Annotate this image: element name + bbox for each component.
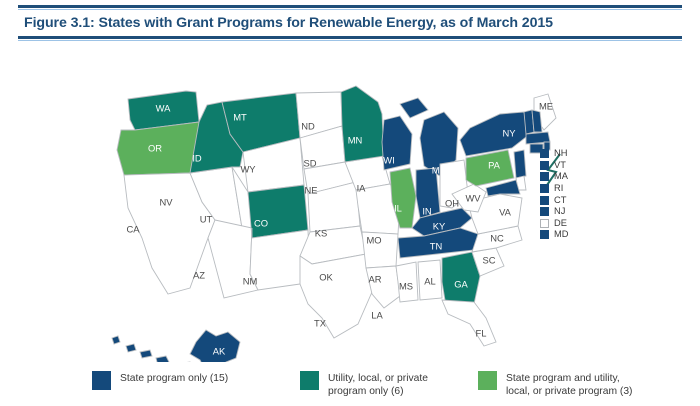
legend-item-state-program-only[interactable]: State program only (15) bbox=[92, 371, 228, 390]
state-NH[interactable] bbox=[532, 110, 542, 132]
state-label-TN: TN bbox=[430, 240, 443, 251]
state-label-AL: AL bbox=[424, 275, 435, 286]
state-label-NY: NY bbox=[502, 127, 516, 138]
callout-label: NH bbox=[554, 149, 567, 158]
callout-swatch-icon bbox=[540, 184, 549, 193]
state-label-WY: WY bbox=[240, 163, 256, 174]
state-label-NM: NM bbox=[243, 275, 258, 286]
state-label-OH: OH bbox=[445, 197, 459, 208]
callout-swatch-icon bbox=[540, 161, 549, 170]
state-label-MS: MS bbox=[399, 280, 413, 291]
legend-label-block: State program and utility, local, or pri… bbox=[506, 371, 632, 398]
callout-label: NJ bbox=[554, 207, 565, 216]
state-TX[interactable] bbox=[300, 254, 372, 338]
callout-swatch-icon bbox=[540, 207, 549, 216]
callout-swatch-icon bbox=[540, 149, 549, 158]
state-label-MT: MT bbox=[233, 111, 247, 122]
callout-label: CT bbox=[554, 196, 566, 205]
callout-label: MD bbox=[554, 230, 568, 239]
legend-label-line2: program only (6) bbox=[328, 386, 404, 397]
state-label-KS: KS bbox=[315, 227, 328, 238]
state-label-UT: UT bbox=[200, 213, 213, 224]
state-label-VA: VA bbox=[499, 206, 512, 217]
title-rule-bottom bbox=[18, 36, 682, 39]
legend-label-line1: Utility, local, or private bbox=[328, 373, 428, 384]
state-label-GA: GA bbox=[454, 278, 468, 289]
legend-item-state-and-utility[interactable]: State program and utility, local, or pri… bbox=[478, 371, 632, 398]
state-label-AZ: AZ bbox=[193, 269, 205, 280]
state-label-NV: NV bbox=[159, 196, 173, 207]
state-label-SD: SD bbox=[303, 157, 316, 168]
state-MN[interactable] bbox=[341, 86, 384, 162]
callout-swatch-icon bbox=[540, 219, 549, 228]
choropleth-map: WA OR CA NV ID MT WY UT AZ CO NM ND SD N… bbox=[0, 42, 700, 362]
state-label-ID: ID bbox=[192, 152, 202, 163]
legend-swatch-icon bbox=[478, 371, 497, 390]
state-label-IA: IA bbox=[357, 182, 367, 193]
state-label-KY: KY bbox=[433, 220, 446, 231]
state-HI[interactable] bbox=[112, 336, 194, 362]
callout-item-ri[interactable]: RI bbox=[540, 183, 568, 195]
state-label-LA: LA bbox=[371, 309, 383, 320]
callout-swatch-icon bbox=[540, 172, 549, 181]
state-label-WI: WI bbox=[383, 154, 394, 165]
state-label-CA: CA bbox=[126, 223, 140, 234]
legend-label-line2: local, or private program (3) bbox=[506, 386, 632, 397]
state-label-MN: MN bbox=[348, 134, 363, 145]
callout-item-de[interactable]: DE bbox=[540, 218, 568, 230]
callout-item-ma[interactable]: MA bbox=[540, 171, 568, 183]
state-label-MI: MI bbox=[432, 164, 442, 175]
legend-label-line1: State program and utility, bbox=[506, 373, 620, 384]
state-NY[interactable] bbox=[460, 112, 530, 156]
state-label-CO: CO bbox=[254, 217, 268, 228]
callout-item-md[interactable]: MD bbox=[540, 229, 568, 241]
state-label-PA: PA bbox=[488, 159, 501, 170]
callout-item-ct[interactable]: CT bbox=[540, 194, 568, 206]
title-rule-top bbox=[18, 5, 682, 8]
callout-label: DE bbox=[554, 219, 567, 228]
legend-label-block: Utility, local, or private program only … bbox=[328, 371, 428, 398]
callout-swatch-icon bbox=[540, 196, 549, 205]
state-CO[interactable] bbox=[248, 185, 308, 238]
state-label-ME: ME bbox=[539, 100, 553, 111]
state-label-WV: WV bbox=[465, 192, 481, 203]
callout-label: VT bbox=[554, 161, 566, 170]
state-NJ[interactable] bbox=[514, 150, 526, 178]
state-FL[interactable] bbox=[442, 300, 496, 346]
state-LA[interactable] bbox=[366, 266, 400, 308]
figure-title-block: Figure 3.1: States with Grant Programs f… bbox=[18, 5, 682, 41]
state-label-OK: OK bbox=[319, 271, 333, 282]
callout-item-nj[interactable]: NJ bbox=[540, 206, 568, 218]
legend-item-utility-local-private[interactable]: Utility, local, or private program only … bbox=[300, 371, 428, 398]
state-label-TX: TX bbox=[314, 317, 327, 328]
legend-label: State program only (15) bbox=[120, 371, 228, 385]
state-label-OR: OR bbox=[148, 142, 162, 153]
state-callout-list: NH VT MA RI CT NJ DE MD bbox=[540, 148, 568, 241]
state-label-IL: IL bbox=[394, 202, 402, 213]
legend-swatch-icon bbox=[300, 371, 319, 390]
legend-swatch-icon bbox=[92, 371, 111, 390]
callout-swatch-icon bbox=[540, 230, 549, 239]
state-label-AR: AR bbox=[368, 273, 381, 284]
state-label-IN: IN bbox=[422, 205, 431, 216]
state-label-AK: AK bbox=[213, 345, 226, 356]
page-title: Figure 3.1: States with Grant Programs f… bbox=[18, 10, 682, 36]
callout-item-nh[interactable]: NH bbox=[540, 148, 568, 160]
state-label-MO: MO bbox=[366, 234, 381, 245]
state-label-ND: ND bbox=[301, 120, 315, 131]
state-label-FL: FL bbox=[476, 327, 487, 338]
callout-item-vt[interactable]: VT bbox=[540, 160, 568, 172]
state-label-NE: NE bbox=[304, 184, 317, 195]
callout-label: MA bbox=[554, 172, 568, 181]
title-rule-accent-bottom bbox=[18, 40, 682, 41]
state-label-NC: NC bbox=[490, 232, 504, 243]
state-label-WA: WA bbox=[156, 102, 172, 113]
state-label-SC: SC bbox=[482, 254, 495, 265]
callout-label: RI bbox=[554, 184, 563, 193]
